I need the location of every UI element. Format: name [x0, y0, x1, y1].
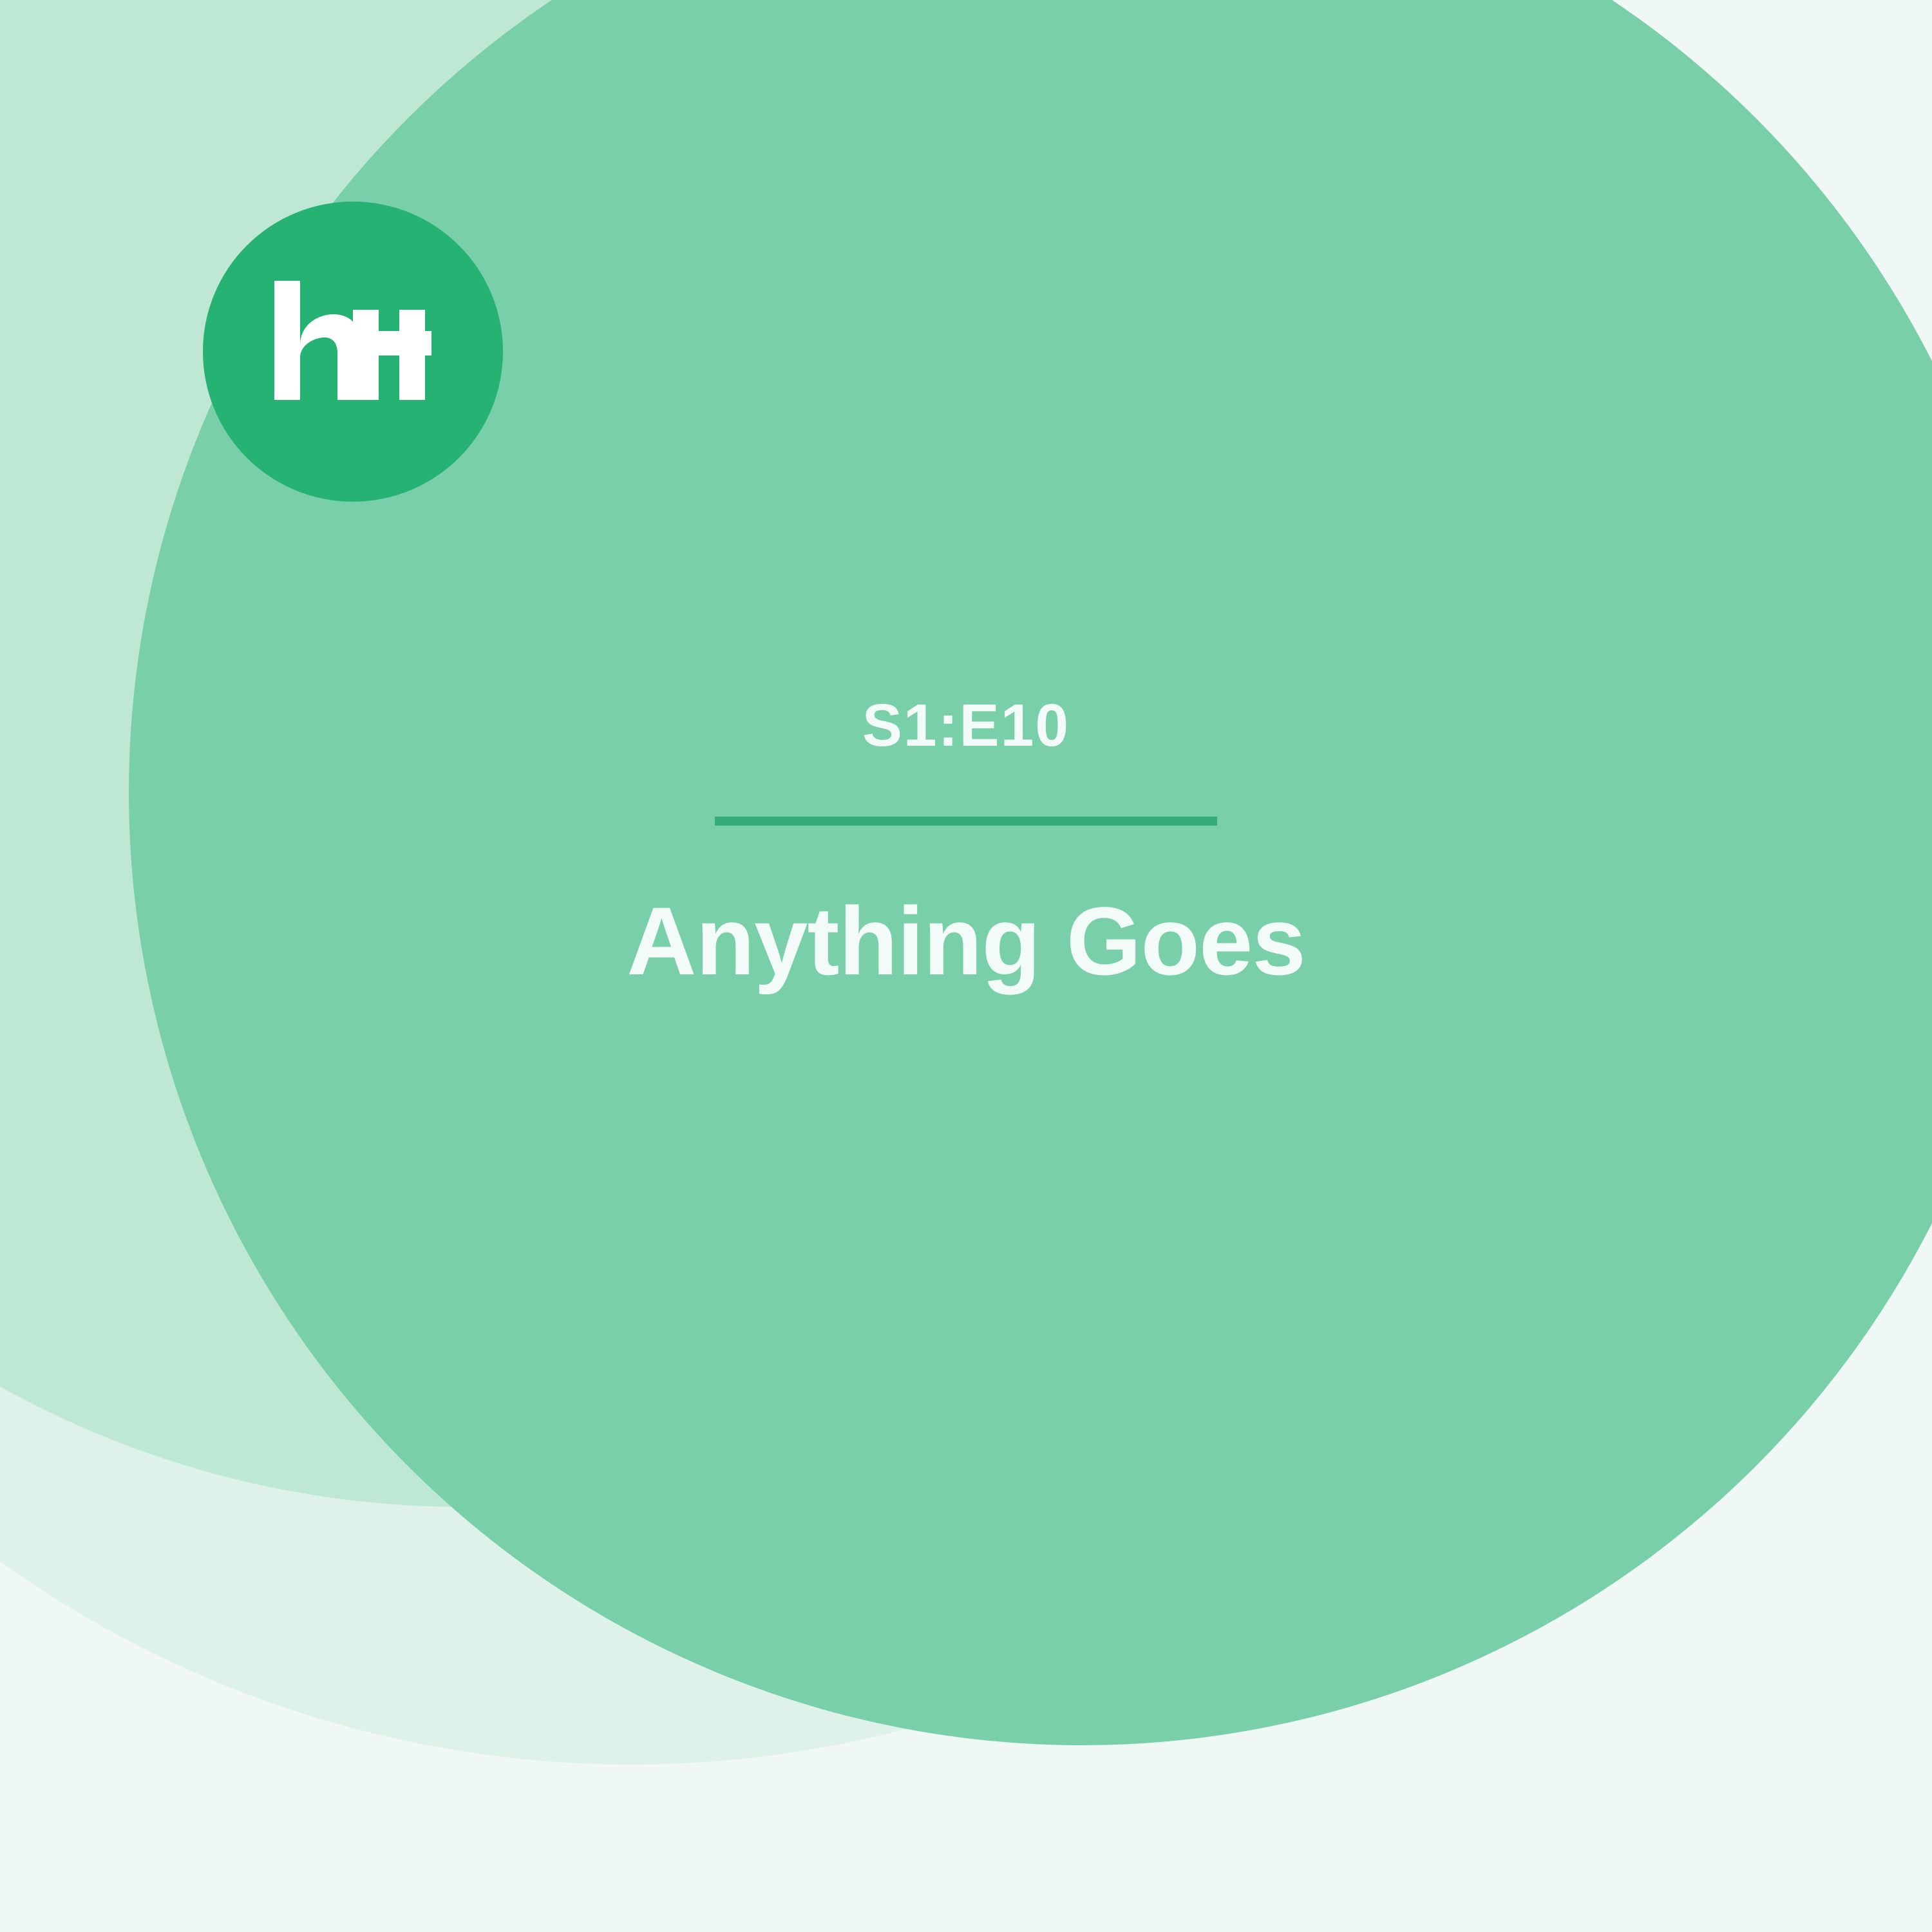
episode-info-block: S1:E10 Anything Goes — [0, 696, 1932, 993]
episode-title: Anything Goes — [0, 889, 1932, 993]
divider-container — [0, 815, 1932, 827]
brand-logo-badge[interactable] — [203, 202, 503, 502]
episode-number-label: S1:E10 — [0, 696, 1932, 755]
cover-content: S1:E10 Anything Goes — [0, 0, 1932, 1932]
title-divider — [715, 817, 1217, 826]
htt-monogram-icon — [256, 255, 450, 448]
episode-cover-artwork: S1:E10 Anything Goes — [0, 0, 1932, 1932]
